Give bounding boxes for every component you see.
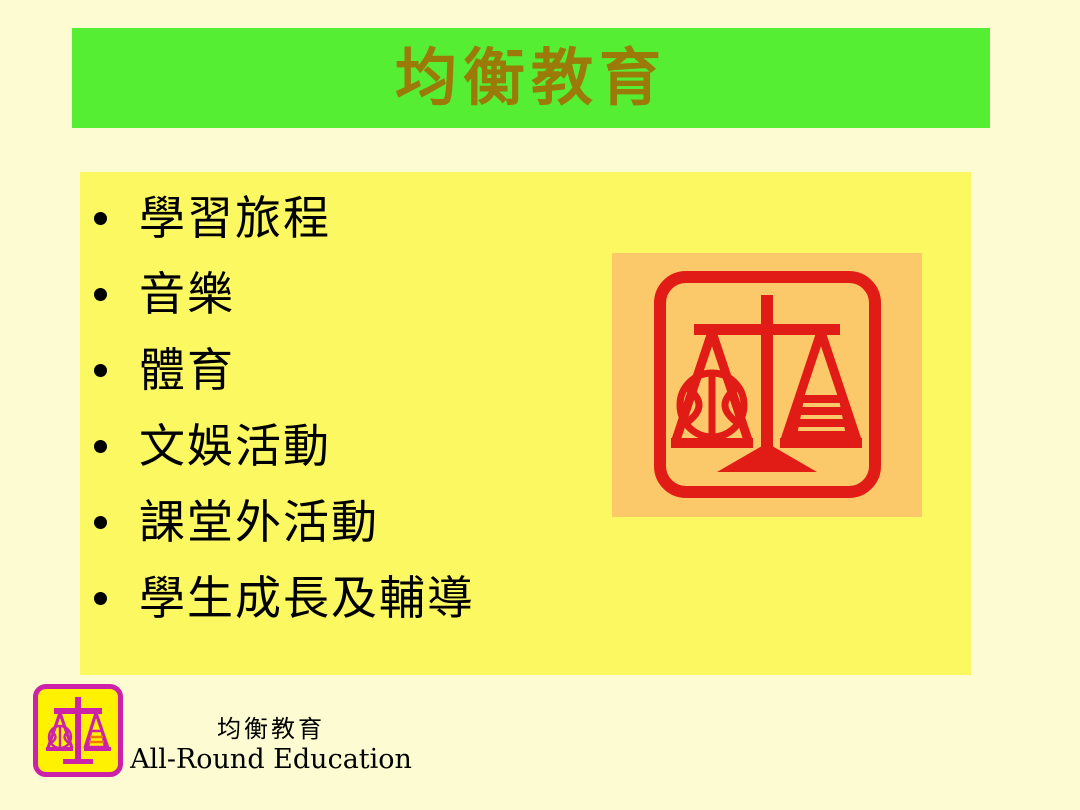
list-item: 體育 <box>80 332 600 408</box>
footer-english-title: All-Round Education <box>126 744 416 775</box>
bullet-dot-icon <box>94 592 107 605</box>
balance-scale-icon <box>612 253 922 517</box>
footer-chinese-title: 均衡教育 <box>126 714 416 744</box>
bullet-dot-icon <box>94 288 107 301</box>
list-item: 課堂外活動 <box>80 484 600 560</box>
list-item: 音樂 <box>80 256 600 332</box>
page-title: 均衡教育 <box>395 47 667 109</box>
balance-scale-image <box>612 253 922 517</box>
list-item-label: 文娛活動 <box>139 423 331 469</box>
list-item-label: 學生成長及輔導 <box>139 575 475 621</box>
list-item: 學習旅程 <box>80 180 600 256</box>
content-panel: 學習旅程 音樂 體育 文娛活動 課堂外活動 學生成長及輔導 <box>80 172 971 675</box>
footer-caption: 均衡教育 All-Round Education <box>126 714 416 775</box>
list-item-label: 課堂外活動 <box>139 499 379 545</box>
list-item: 學生成長及輔導 <box>80 560 600 636</box>
list-item-label: 體育 <box>139 347 235 393</box>
balance-scale-logo-icon <box>38 689 118 772</box>
bullet-dot-icon <box>94 212 107 225</box>
slide-title-banner: 均衡教育 <box>72 28 990 128</box>
all-round-education-logo <box>33 684 123 777</box>
slide: 均衡教育 學習旅程 音樂 體育 文娛活動 課堂外活動 <box>0 0 1080 810</box>
bullet-dot-icon <box>94 516 107 529</box>
bullet-dot-icon <box>94 440 107 453</box>
footer: 均衡教育 All-Round Education <box>30 684 430 794</box>
list-item: 文娛活動 <box>80 408 600 484</box>
list-item-label: 音樂 <box>139 271 235 317</box>
list-item-label: 學習旅程 <box>139 195 331 241</box>
bullet-list: 學習旅程 音樂 體育 文娛活動 課堂外活動 學生成長及輔導 <box>80 180 600 636</box>
bullet-dot-icon <box>94 364 107 377</box>
